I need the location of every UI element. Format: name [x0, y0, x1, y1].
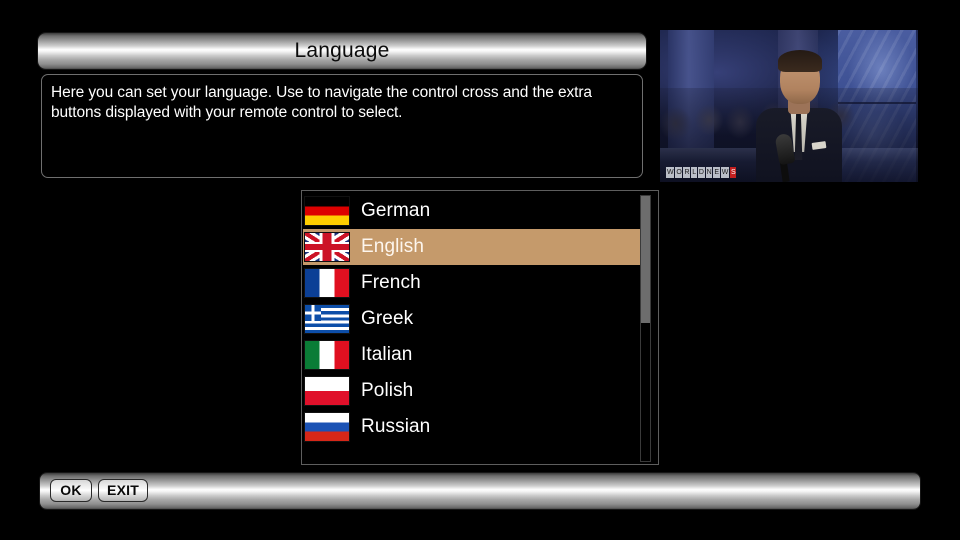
- bottom-button-bar: OK EXIT: [40, 473, 920, 509]
- flag-greece-icon: [305, 305, 349, 333]
- language-label: Polish: [361, 380, 413, 402]
- language-label: French: [361, 272, 421, 294]
- language-row-italian[interactable]: Italian: [303, 337, 643, 373]
- title-bar: Language: [38, 33, 646, 69]
- video-preview[interactable]: WORLDNEWS: [660, 30, 918, 182]
- language-label: Russian: [361, 416, 430, 438]
- flag-france-icon: [305, 269, 349, 297]
- language-label: Greek: [361, 308, 413, 330]
- language-row-polish[interactable]: Polish: [303, 373, 643, 409]
- union-jack-uj-cross-red: [305, 233, 349, 261]
- watermark-cell: E: [713, 167, 719, 178]
- flag-italy-icon: [305, 341, 349, 369]
- video-reporter-hair: [778, 50, 822, 72]
- channel-watermark: WORLDNEWS: [666, 167, 736, 178]
- language-row-english[interactable]: English: [303, 229, 643, 265]
- language-list: GermanEnglishFrenchGreekItalianPolishRus…: [303, 193, 643, 445]
- ok-button[interactable]: OK: [50, 479, 92, 502]
- language-row-french[interactable]: French: [303, 265, 643, 301]
- page-title: Language: [38, 33, 646, 69]
- flag-germany-icon: [305, 197, 349, 225]
- watermark-cell: L: [691, 167, 697, 178]
- watermark-cell: W: [666, 167, 674, 178]
- help-box: Here you can set your language. Use to n…: [41, 74, 643, 178]
- language-row-greek[interactable]: Greek: [303, 301, 643, 337]
- exit-button[interactable]: EXIT: [98, 479, 148, 502]
- language-label: Italian: [361, 344, 412, 366]
- language-row-german[interactable]: German: [303, 193, 643, 229]
- language-label: German: [361, 200, 430, 222]
- watermark-cell: W: [721, 167, 729, 178]
- tv-settings-screen: Language Here you can set your language.…: [0, 0, 960, 540]
- watermark-cell: R: [683, 167, 690, 178]
- flag-united-kingdom-icon: [305, 233, 349, 261]
- flag-russia-icon: [305, 413, 349, 441]
- list-scrollbar-thumb[interactable]: [641, 196, 650, 323]
- flag-poland-icon: [305, 377, 349, 405]
- language-label: English: [361, 236, 424, 258]
- watermark-cell: D: [698, 167, 705, 178]
- watermark-cell: S: [730, 167, 736, 178]
- language-row-russian[interactable]: Russian: [303, 409, 643, 445]
- help-text: Here you can set your language. Use to n…: [51, 83, 631, 123]
- list-scrollbar[interactable]: [640, 195, 651, 462]
- language-list-panel: GermanEnglishFrenchGreekItalianPolishRus…: [301, 190, 659, 465]
- watermark-cell: N: [706, 167, 713, 178]
- watermark-cell: O: [675, 167, 682, 178]
